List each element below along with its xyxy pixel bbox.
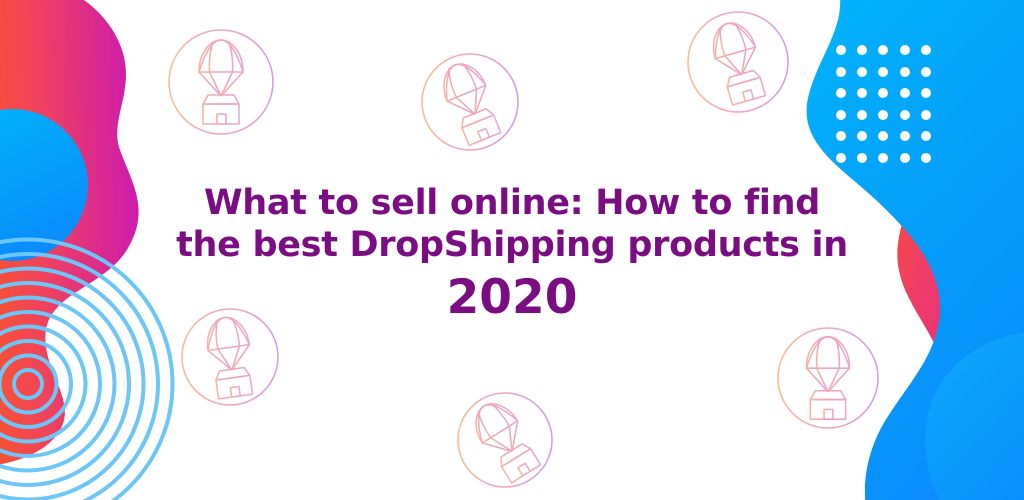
parachute-icon-6	[778, 328, 878, 428]
parachute-icon-layer	[0, 0, 1024, 500]
parachute-box-icon	[199, 40, 243, 124]
parachute-icon-5	[458, 393, 552, 487]
parachute-box-icon	[436, 57, 505, 147]
parachute-box-icon	[707, 18, 769, 106]
parachute-box-icon	[466, 395, 544, 485]
parachute-box-icon	[204, 315, 256, 400]
parachute-icon-1	[169, 30, 273, 134]
parachute-icon-3	[688, 12, 788, 112]
marketing-banner: What to sell online: How to find the bes…	[0, 0, 1024, 500]
parachute-icon-4	[182, 309, 278, 405]
parachute-icon-2	[422, 54, 518, 150]
parachute-box-icon	[806, 337, 849, 419]
